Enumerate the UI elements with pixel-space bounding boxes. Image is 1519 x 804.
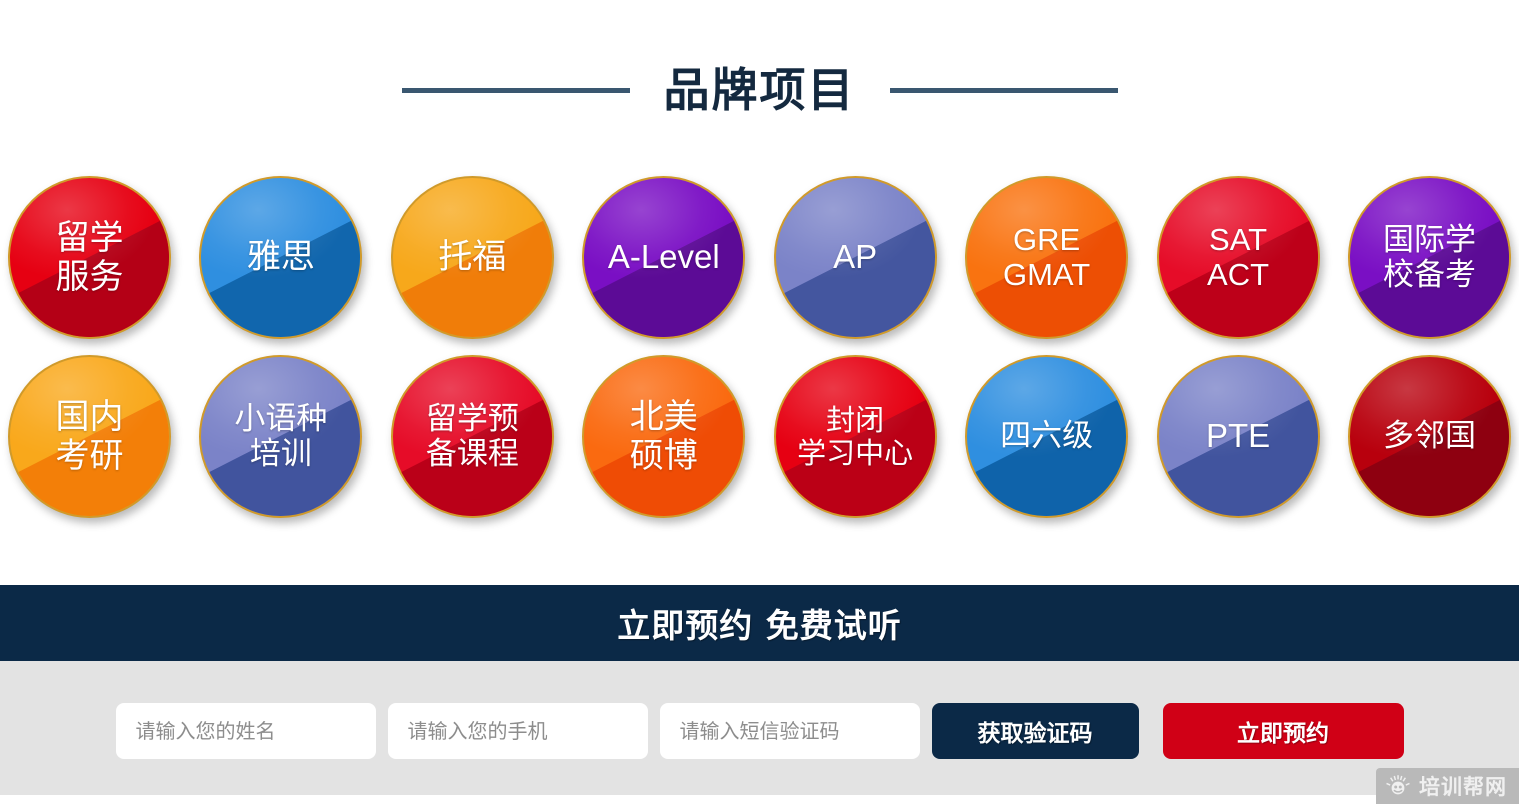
- site-watermark: 培训帮网: [1376, 768, 1519, 804]
- program-bubble-a-level[interactable]: A-Level: [582, 176, 745, 339]
- program-bubble-ielts[interactable]: 雅思: [199, 176, 362, 339]
- program-bubble-label: 封闭 学习中心: [791, 404, 919, 469]
- program-bubble-label: PTE: [1200, 418, 1276, 455]
- program-bubble-label: AP: [827, 239, 883, 276]
- name-input[interactable]: [116, 703, 376, 759]
- heading-rule-right: [890, 88, 1118, 93]
- program-bubble-north-america-master-phd[interactable]: 北美 硕博: [582, 355, 745, 518]
- program-bubble-label: 留学 服务: [50, 219, 130, 295]
- sun-face-icon: [1386, 774, 1410, 798]
- program-bubble-label: 雅思: [241, 238, 321, 276]
- program-bubble-study-abroad-foundation[interactable]: 留学预 备课程: [391, 355, 554, 518]
- program-bubble-label: 多邻国: [1377, 419, 1482, 454]
- program-bubble-cet-4-6[interactable]: 四六级: [965, 355, 1128, 518]
- program-bubble-pte[interactable]: PTE: [1157, 355, 1320, 518]
- program-bubble-closed-study-center[interactable]: 封闭 学习中心: [774, 355, 937, 518]
- program-bubble-label: SAT ACT: [1201, 223, 1275, 292]
- cta-banner: 立即预约 免费试听: [0, 585, 1519, 661]
- program-bubble-label: A-Level: [602, 239, 726, 276]
- program-bubble-toefl[interactable]: 托福: [391, 176, 554, 339]
- sms-code-input[interactable]: [660, 703, 920, 759]
- heading-rule-left: [402, 88, 630, 93]
- phone-input[interactable]: [388, 703, 648, 759]
- program-bubble-label: 托福: [432, 238, 512, 276]
- program-bubble-gre-gmat[interactable]: GRE GMAT: [965, 176, 1128, 339]
- submit-booking-button[interactable]: 立即预约: [1163, 703, 1404, 759]
- program-row-1: 留学 服务雅思托福A-LevelAPGRE GMATSAT ACT国际学 校备考: [0, 176, 1519, 339]
- program-bubble-ap[interactable]: AP: [774, 176, 937, 339]
- program-bubble-sat-act[interactable]: SAT ACT: [1157, 176, 1320, 339]
- program-bubble-international-school-prep[interactable]: 国际学 校备考: [1348, 176, 1511, 339]
- watermark-label: 培训帮网: [1419, 771, 1507, 801]
- program-bubble-duolingo[interactable]: 多邻国: [1348, 355, 1511, 518]
- program-bubble-study-abroad-service[interactable]: 留学 服务: [8, 176, 171, 339]
- program-grid: 留学 服务雅思托福A-LevelAPGRE GMATSAT ACT国际学 校备考…: [0, 176, 1519, 518]
- get-code-button[interactable]: 获取验证码: [932, 703, 1139, 759]
- page-title: 品牌项目: [664, 62, 856, 120]
- program-bubble-label: 小语种 培训: [228, 402, 333, 471]
- program-bubble-label: 留学预 备课程: [420, 402, 525, 471]
- program-bubble-minor-language-training[interactable]: 小语种 培训: [199, 355, 362, 518]
- section-heading: 品牌项目: [0, 62, 1519, 120]
- booking-form: 获取验证码 立即预约: [0, 661, 1519, 795]
- program-bubble-domestic-postgrad-exam[interactable]: 国内 考研: [8, 355, 171, 518]
- program-bubble-label: GRE GMAT: [997, 223, 1096, 292]
- program-bubble-label: 北美 硕博: [624, 398, 704, 474]
- program-bubble-label: 国内 考研: [50, 398, 130, 474]
- program-bubble-label: 四六级: [994, 419, 1099, 454]
- program-row-2: 国内 考研小语种 培训留学预 备课程北美 硕博封闭 学习中心四六级PTE多邻国: [0, 355, 1519, 518]
- brand-programs-page: 品牌项目 留学 服务雅思托福A-LevelAPGRE GMATSAT ACT国际…: [0, 0, 1519, 804]
- cta-banner-text: 立即预约 免费试听: [617, 599, 902, 647]
- program-bubble-label: 国际学 校备考: [1377, 223, 1482, 292]
